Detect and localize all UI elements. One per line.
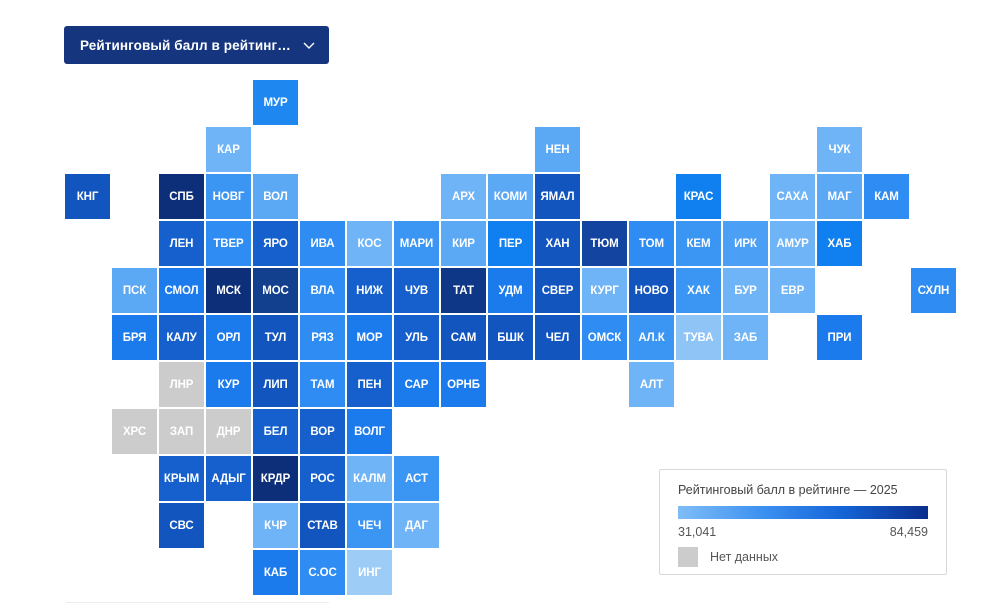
map-tile-label: БШК bbox=[497, 332, 524, 344]
map-tile[interactable]: ЗАП bbox=[159, 409, 204, 454]
map-tile[interactable]: НОВО bbox=[629, 268, 674, 313]
map-tile-label: КУР bbox=[218, 379, 240, 391]
map-tile[interactable]: АЛТ bbox=[629, 362, 674, 407]
map-tile-label: ТУЛ bbox=[265, 332, 287, 344]
map-tile[interactable]: ХАБ bbox=[817, 221, 862, 266]
map-tile-label: ЧУВ bbox=[405, 285, 428, 297]
map-tile[interactable]: КРАС bbox=[676, 174, 721, 219]
map-tile[interactable]: КРЫМ bbox=[159, 456, 204, 501]
map-tile[interactable]: ХРС bbox=[112, 409, 157, 454]
map-tile-label: ЯРО bbox=[263, 238, 287, 250]
map-tile[interactable]: ЯРО bbox=[253, 221, 298, 266]
map-tile[interactable]: НЕН bbox=[535, 127, 580, 172]
map-tile-label: ЧЕЛ bbox=[546, 332, 570, 344]
map-tile[interactable]: МАГ bbox=[817, 174, 862, 219]
map-tile-label: РЯЗ bbox=[311, 332, 334, 344]
map-tile-label: АМУР bbox=[776, 238, 808, 250]
map-tile-label: ТОМ bbox=[639, 238, 664, 250]
map-tile-label: КАЛМ bbox=[353, 473, 386, 485]
map-tile-label: ХАН bbox=[546, 238, 570, 250]
map-tile[interactable]: КЧР bbox=[253, 503, 298, 548]
map-tile[interactable]: С.ОС bbox=[300, 550, 345, 595]
map-tile-label: ОРНБ bbox=[447, 379, 480, 391]
tile-map-page: Рейтинговый балл в рейтинге... МУРНЕНЧУК… bbox=[0, 0, 1002, 610]
map-tile-label: МАРИ bbox=[400, 238, 433, 250]
map-tile-label: ДНР bbox=[217, 426, 241, 438]
map-tile-label: ОРЛ bbox=[217, 332, 241, 344]
legend-nodata-label: Нет данных bbox=[710, 550, 778, 564]
map-tile-label: ВОЛГ bbox=[354, 426, 385, 438]
map-tile-label: УДМ bbox=[498, 285, 522, 297]
map-tile-label: АЛТ bbox=[640, 379, 663, 391]
map-tile-label: ПЕН bbox=[358, 379, 382, 391]
map-tile-label: С.ОС bbox=[308, 567, 336, 579]
map-tile-label: ТУВА bbox=[684, 332, 714, 344]
legend-color-ramp bbox=[678, 506, 928, 519]
map-tile[interactable]: КОС bbox=[347, 221, 392, 266]
legend-nodata-row: Нет данных bbox=[678, 547, 928, 567]
map-tile-label: ЛИП bbox=[263, 379, 287, 391]
map-tile-label: ТАМ bbox=[311, 379, 335, 391]
map-tile-label: ВОЛ bbox=[263, 191, 287, 203]
map-tile-label: КЧР bbox=[264, 520, 287, 532]
bottom-divider bbox=[66, 602, 329, 603]
map-tile[interactable]: МАРИ bbox=[394, 221, 439, 266]
map-tile[interactable]: ПРИ bbox=[817, 315, 862, 360]
map-tile-label: КРЫМ bbox=[164, 473, 199, 485]
map-tile-label: ИРК bbox=[734, 238, 757, 250]
map-tile[interactable]: УДМ bbox=[488, 268, 533, 313]
map-tile-label: ИНГ bbox=[358, 567, 381, 579]
map-tile[interactable]: ОРНБ bbox=[441, 362, 486, 407]
map-tile-label: ЗАП bbox=[170, 426, 193, 438]
map-tile-label: ВЛА bbox=[310, 285, 334, 297]
map-tile[interactable]: СХЛН bbox=[911, 268, 956, 313]
map-tile-label: СТАВ bbox=[307, 520, 338, 532]
map-tile-label: ВОР bbox=[310, 426, 334, 438]
map-tile[interactable]: ПЕН bbox=[347, 362, 392, 407]
map-tile[interactable]: ВОЛГ bbox=[347, 409, 392, 454]
map-tile-label: МАГ bbox=[827, 191, 851, 203]
map-tile[interactable]: АМУР bbox=[770, 221, 815, 266]
map-tile[interactable]: НИЖ bbox=[347, 268, 392, 313]
map-tile[interactable]: САМ bbox=[441, 315, 486, 360]
map-tile[interactable]: КУРГ bbox=[582, 268, 627, 313]
map-tile[interactable]: ЕВР bbox=[770, 268, 815, 313]
map-tile[interactable]: РОС bbox=[300, 456, 345, 501]
map-tile-label: КЕМ bbox=[687, 238, 711, 250]
map-tile[interactable]: НОВГ bbox=[206, 174, 251, 219]
map-tile[interactable]: САР bbox=[394, 362, 439, 407]
map-tile[interactable]: КУР bbox=[206, 362, 251, 407]
map-tile[interactable]: ТЮМ bbox=[582, 221, 627, 266]
map-tile[interactable]: СТАВ bbox=[300, 503, 345, 548]
map-tile-label: САХА bbox=[777, 191, 809, 203]
map-tile[interactable]: СМОЛ bbox=[159, 268, 204, 313]
map-tile[interactable]: МСК bbox=[206, 268, 251, 313]
legend-title: Рейтинговый балл в рейтинге — 2025 bbox=[678, 483, 928, 497]
map-tile[interactable]: ТУВА bbox=[676, 315, 721, 360]
map-tile-label: МУР bbox=[263, 97, 287, 109]
map-tile[interactable]: ПСК bbox=[112, 268, 157, 313]
map-tile-label: СХЛН bbox=[918, 285, 950, 297]
map-tile[interactable]: УЛЬ bbox=[394, 315, 439, 360]
map-tile[interactable]: БУР bbox=[723, 268, 768, 313]
map-tile[interactable]: ТАМ bbox=[300, 362, 345, 407]
map-tile[interactable]: ХАК bbox=[676, 268, 721, 313]
map-tile[interactable]: КНГ bbox=[65, 174, 110, 219]
map-tile-label: КРДР bbox=[261, 473, 290, 485]
map-tile[interactable]: ЧУВ bbox=[394, 268, 439, 313]
map-tile[interactable]: СВЕР bbox=[535, 268, 580, 313]
map-tile-label: ТЮМ bbox=[590, 238, 618, 250]
map-tile[interactable]: КАЛМ bbox=[347, 456, 392, 501]
legend-scale: 31,041 84,459 bbox=[678, 525, 928, 539]
map-tile[interactable]: БШК bbox=[488, 315, 533, 360]
map-tile[interactable]: МОС bbox=[253, 268, 298, 313]
map-tile-label: ПЕР bbox=[499, 238, 522, 250]
map-tile[interactable]: ИВА bbox=[300, 221, 345, 266]
map-tile[interactable]: ОРЛ bbox=[206, 315, 251, 360]
map-tile-label: ДАГ bbox=[405, 520, 428, 532]
map-tile-label: КИР bbox=[452, 238, 475, 250]
map-tile-label: КАМ bbox=[874, 191, 899, 203]
map-tile[interactable]: ЧЕЧ bbox=[347, 503, 392, 548]
map-tile-label: ПРИ bbox=[828, 332, 852, 344]
map-tile[interactable]: МОР bbox=[347, 315, 392, 360]
map-tile-label: КАР bbox=[217, 144, 240, 156]
legend-nodata-swatch bbox=[678, 547, 698, 567]
map-tile[interactable]: ВОЛ bbox=[253, 174, 298, 219]
map-tile[interactable]: МУР bbox=[253, 80, 298, 125]
map-tile-label: ОМСК bbox=[588, 332, 621, 344]
map-tile-label: ТВЕР bbox=[213, 238, 243, 250]
map-tile-label: САР bbox=[405, 379, 429, 391]
map-tile[interactable]: АСТ bbox=[394, 456, 439, 501]
map-tile[interactable]: ТВЕР bbox=[206, 221, 251, 266]
map-tile[interactable]: РЯЗ bbox=[300, 315, 345, 360]
map-tile[interactable]: КАЛУ bbox=[159, 315, 204, 360]
map-tile-label: ХАК bbox=[687, 285, 710, 297]
map-tile-label: АРХ bbox=[452, 191, 475, 203]
map-tile-label: КУРГ bbox=[590, 285, 618, 297]
map-tile[interactable]: ЧУК bbox=[817, 127, 862, 172]
map-tile-label: МСК bbox=[216, 285, 241, 297]
map-tile[interactable]: ЛИП bbox=[253, 362, 298, 407]
map-tile[interactable]: КИР bbox=[441, 221, 486, 266]
map-tile-label: СВЕР bbox=[542, 285, 574, 297]
map-tile-label: БЕЛ bbox=[264, 426, 288, 438]
map-tile-label: ХАБ bbox=[828, 238, 852, 250]
map-tile[interactable]: ПЕР bbox=[488, 221, 533, 266]
map-tile[interactable]: ЛНР bbox=[159, 362, 204, 407]
map-tile-label: ХРС bbox=[123, 426, 146, 438]
map-tile-label: БРЯ bbox=[123, 332, 147, 344]
map-tile-label: НИЖ bbox=[356, 285, 383, 297]
map-tile[interactable]: БЕЛ bbox=[253, 409, 298, 454]
map-tile[interactable]: ВОР bbox=[300, 409, 345, 454]
map-tile-label: ПСК bbox=[123, 285, 146, 297]
map-tile[interactable]: СВС bbox=[159, 503, 204, 548]
map-tile[interactable]: САХА bbox=[770, 174, 815, 219]
map-tile[interactable]: ИНГ bbox=[347, 550, 392, 595]
map-tile[interactable]: ЛЕН bbox=[159, 221, 204, 266]
map-tile-label: КАЛУ bbox=[166, 332, 196, 344]
map-tile-label: КОМИ bbox=[494, 191, 527, 203]
map-tile-label: НЕН bbox=[546, 144, 570, 156]
map-tile-label: ЛЕН bbox=[170, 238, 194, 250]
map-tile[interactable]: БРЯ bbox=[112, 315, 157, 360]
map-tile-label: ЧЕЧ bbox=[358, 520, 382, 532]
legend-min-value: 31,041 bbox=[678, 525, 716, 539]
map-tile-label: МОР bbox=[357, 332, 383, 344]
map-tile[interactable]: ОМСК bbox=[582, 315, 627, 360]
map-tile-label: КАБ bbox=[264, 567, 287, 579]
map-tile[interactable]: КЕМ bbox=[676, 221, 721, 266]
map-tile-label: СПБ bbox=[169, 191, 194, 203]
map-tile[interactable]: ХАН bbox=[535, 221, 580, 266]
map-tile-label: ЕВР bbox=[781, 285, 804, 297]
map-tile-label: СМОЛ bbox=[164, 285, 198, 297]
map-tile[interactable]: ДАГ bbox=[394, 503, 439, 548]
legend-panel: Рейтинговый балл в рейтинге — 2025 31,04… bbox=[659, 469, 947, 575]
map-tile[interactable]: ТАТ bbox=[441, 268, 486, 313]
map-tile-label: ТАТ bbox=[453, 285, 474, 297]
map-tile-label: СВС bbox=[169, 520, 193, 532]
map-tile[interactable]: ТУЛ bbox=[253, 315, 298, 360]
map-tile-label: НОВО bbox=[635, 285, 669, 297]
map-tile[interactable]: КАМ bbox=[864, 174, 909, 219]
map-tile-label: БУР bbox=[734, 285, 757, 297]
map-tile-label: КНГ bbox=[77, 191, 99, 203]
map-tile-label: ЛНР bbox=[170, 379, 194, 391]
map-tile[interactable]: КОМИ bbox=[488, 174, 533, 219]
map-tile-label: ЧУК bbox=[829, 144, 851, 156]
map-tile[interactable]: ЯМАЛ bbox=[535, 174, 580, 219]
map-tile[interactable]: ЗАБ bbox=[723, 315, 768, 360]
map-tile-label: ЯМАЛ bbox=[541, 191, 575, 203]
map-tile-label: НОВГ bbox=[213, 191, 245, 203]
map-tile[interactable]: ВЛА bbox=[300, 268, 345, 313]
map-tile-label: КРАС bbox=[684, 191, 714, 203]
map-tile[interactable]: КАБ bbox=[253, 550, 298, 595]
map-tile-label: КОС bbox=[358, 238, 382, 250]
map-tile-label: АСТ bbox=[405, 473, 428, 485]
map-tile[interactable]: ЧЕЛ bbox=[535, 315, 580, 360]
map-tile-label: РОС bbox=[310, 473, 334, 485]
map-tile-label: ИВА bbox=[310, 238, 334, 250]
map-tile-label: АДЫГ bbox=[211, 473, 245, 485]
map-tile-label: АЛ.К bbox=[638, 332, 664, 344]
map-tile-label: УЛЬ bbox=[405, 332, 428, 344]
map-tile[interactable]: АРХ bbox=[441, 174, 486, 219]
legend-max-value: 84,459 bbox=[890, 525, 928, 539]
map-tile-label: САМ bbox=[451, 332, 477, 344]
map-tile[interactable]: КРДР bbox=[253, 456, 298, 501]
map-tile-label: МОС bbox=[262, 285, 289, 297]
map-tile[interactable]: ТОМ bbox=[629, 221, 674, 266]
map-tile[interactable]: КАР bbox=[206, 127, 251, 172]
map-tile[interactable]: АДЫГ bbox=[206, 456, 251, 501]
map-tile-label: ЗАБ bbox=[734, 332, 757, 344]
map-tile[interactable]: ДНР bbox=[206, 409, 251, 454]
map-tile[interactable]: АЛ.К bbox=[629, 315, 674, 360]
map-tile[interactable]: ИРК bbox=[723, 221, 768, 266]
map-tile[interactable]: СПБ bbox=[159, 174, 204, 219]
